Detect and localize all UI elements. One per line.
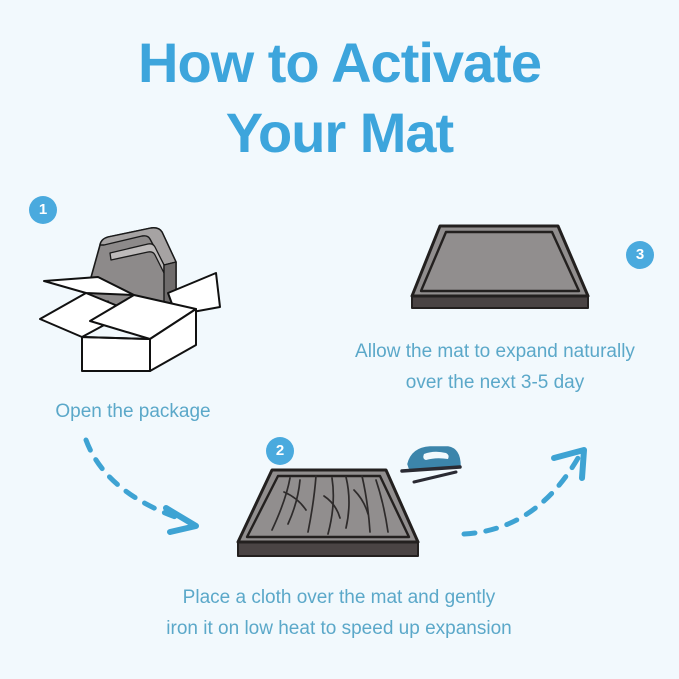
step-1-caption: Open the package <box>0 396 266 427</box>
step-2-caption-line-1: Place a cloth over the mat and gently <box>104 582 574 613</box>
step-2-caption: Place a cloth over the mat and gently ir… <box>104 582 574 644</box>
page-title-line-2: Your Mat <box>0 98 679 168</box>
step-2-caption-line-2: iron it on low heat to speed up expansio… <box>104 613 574 644</box>
infographic-canvas: How to Activate Your Mat 1 <box>0 0 679 679</box>
arrow-step1-to-step2 <box>78 432 228 547</box>
step-3-caption-line-2: over the next 3-5 day <box>318 367 672 398</box>
page-title-line-1: How to Activate <box>0 28 679 98</box>
package-box-illustration <box>38 215 228 380</box>
page-title: How to Activate Your Mat <box>0 28 679 168</box>
step-3-caption: Allow the mat to expand naturally over t… <box>318 336 672 398</box>
arrow-step2-to-step3 <box>458 438 608 553</box>
flat-expanded-mat-illustration <box>400 220 600 325</box>
wrinkled-mat-illustration <box>228 462 428 577</box>
step-1-caption-line-1: Open the package <box>0 396 266 427</box>
step-3-caption-line-1: Allow the mat to expand naturally <box>318 336 672 367</box>
step-3-badge: 3 <box>626 241 654 269</box>
step-2-badge: 2 <box>266 437 294 465</box>
